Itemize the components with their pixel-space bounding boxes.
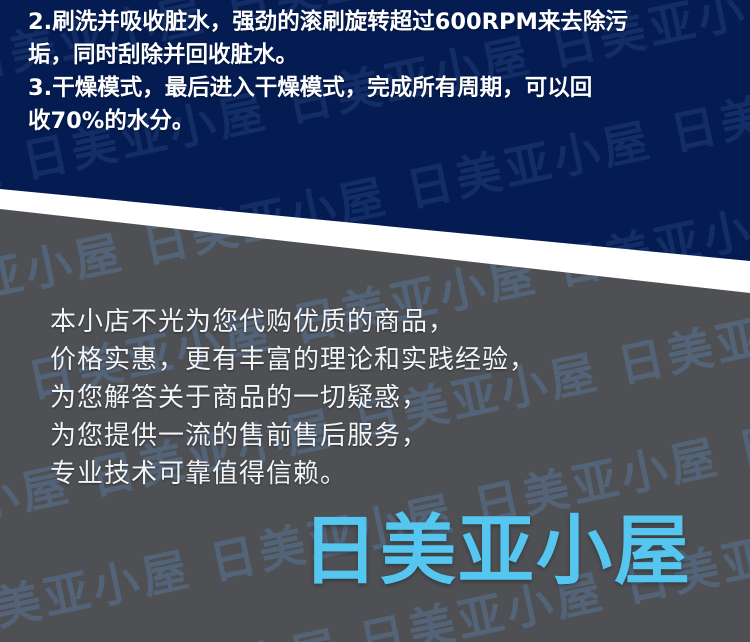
promise-line: 为您提供一流的售前售后服务， bbox=[50, 417, 710, 455]
instruction-line: 收70%的水分。 bbox=[28, 105, 734, 138]
instruction-line: 垢，同时刮除并回收脏水。 bbox=[28, 39, 734, 72]
promo-banner: 日美亚小屋 日美亚小屋 日美亚小屋 日美亚小屋 日美亚小屋 日美亚小屋 日美亚小… bbox=[0, 0, 750, 642]
promise-line: 为您解答关于商品的一切疑惑， bbox=[50, 379, 710, 417]
instruction-line: 3.干燥模式，最后进入干燥模式，完成所有周期，可以回 bbox=[28, 72, 734, 105]
shop-promise-text: 本小店不光为您代购优质的商品， 价格实惠，更有丰富的理论和实践经验， 为您解答关… bbox=[50, 303, 710, 493]
instruction-line: 2.刷洗并吸收脏水，强劲的滚刷旋转超过600RPM来去除污 bbox=[28, 6, 734, 39]
product-instructions-text: 2.刷洗并吸收脏水，强劲的滚刷旋转超过600RPM来去除污 垢，同时刮除并回收脏… bbox=[28, 6, 734, 138]
brand-logo: 日美亚小屋 bbox=[302, 506, 716, 596]
promise-line: 专业技术可靠值得信赖。 bbox=[50, 455, 710, 493]
promise-line: 本小店不光为您代购优质的商品， bbox=[50, 303, 710, 341]
promise-line: 价格实惠，更有丰富的理论和实践经验， bbox=[50, 341, 710, 379]
